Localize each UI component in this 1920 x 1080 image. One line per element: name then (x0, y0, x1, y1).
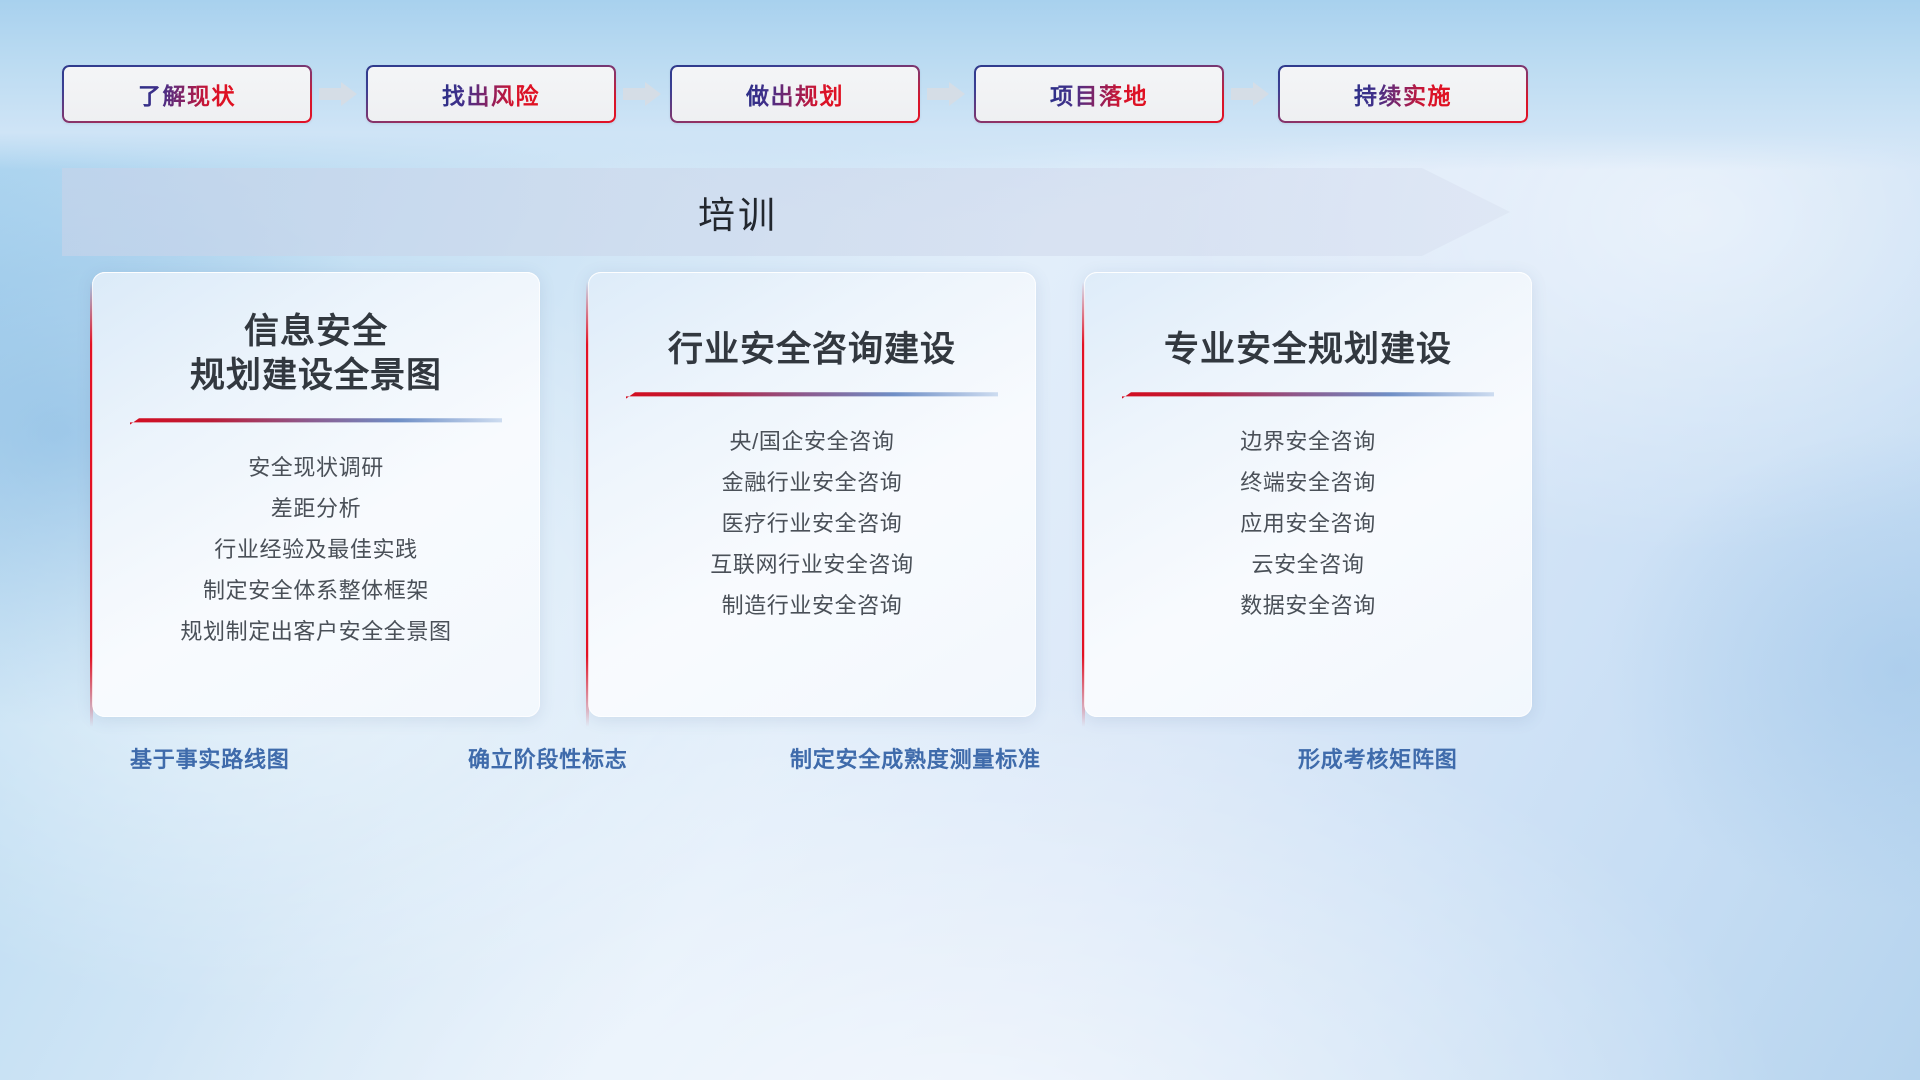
arrow-right-icon (1224, 80, 1278, 108)
list-item: 互联网行业安全咨询 (710, 544, 913, 585)
list-item: 数据安全咨询 (1240, 585, 1376, 626)
list-item: 制造行业安全咨询 (722, 585, 903, 626)
list-item: 云安全咨询 (1251, 544, 1364, 585)
card-divider (626, 388, 998, 399)
arrow-right-icon (616, 80, 670, 108)
list-item: 应用安全咨询 (1240, 503, 1376, 544)
list-item: 行业经验及最佳实践 (214, 529, 417, 570)
arrow-right-icon (920, 80, 974, 108)
card-item-list: 央/国企安全咨询 金融行业安全咨询 医疗行业安全咨询 互联网行业安全咨询 制造行… (710, 421, 913, 626)
process-step-3[interactable]: 做出规划 (670, 65, 920, 123)
card-information-security[interactable]: 信息安全 规划建设全景图 (92, 272, 540, 717)
list-item: 央/国企安全咨询 (730, 421, 895, 462)
process-step-label: 持续实施 (1354, 77, 1452, 111)
list-item: 规划制定出客户安全全景图 (180, 611, 451, 652)
card-industry-security-consulting[interactable]: 行业安全咨询建设 (588, 272, 1036, 717)
card-title: 专业安全规划建设 (1164, 328, 1452, 372)
card-title: 信息安全 规划建设全景图 (190, 310, 442, 398)
slide-canvas: 了解现状 找出风险 做出规划 项目落地 持续实施 (0, 0, 1920, 1080)
process-step-label: 找出风险 (442, 77, 540, 111)
process-step-label: 了解现状 (138, 77, 236, 111)
card-divider (1122, 388, 1494, 399)
banner-title: 培训 (62, 168, 1414, 256)
card-item-list: 安全现状调研 差距分析 行业经验及最佳实践 制定安全体系整体框架 规划制定出客户… (180, 447, 451, 652)
card-list: 信息安全 规划建设全景图 (92, 272, 1532, 717)
list-item: 终端安全咨询 (1240, 462, 1376, 503)
list-item: 制定安全体系整体框架 (203, 570, 429, 611)
card-item-list: 边界安全咨询 终端安全咨询 应用安全咨询 云安全咨询 数据安全咨询 (1240, 421, 1376, 626)
arrow-right-icon (312, 80, 366, 108)
card-title: 行业安全咨询建设 (668, 328, 956, 372)
process-step-label: 做出规划 (746, 77, 844, 111)
card-divider (130, 414, 502, 425)
process-step-4[interactable]: 项目落地 (974, 65, 1224, 123)
list-item: 金融行业安全咨询 (722, 462, 903, 503)
list-item: 医疗行业安全咨询 (722, 503, 903, 544)
process-steps: 了解现状 找出风险 做出规划 项目落地 持续实施 (62, 64, 1514, 124)
process-step-1[interactable]: 了解现状 (62, 65, 312, 123)
list-item: 边界安全咨询 (1240, 421, 1376, 462)
process-step-5[interactable]: 持续实施 (1278, 65, 1528, 123)
list-item: 安全现状调研 (248, 447, 384, 488)
process-step-2[interactable]: 找出风险 (366, 65, 616, 123)
list-item: 差距分析 (271, 488, 361, 529)
card-professional-security-planning[interactable]: 专业安全规划建设 (1084, 272, 1532, 717)
training-banner: 培训 (62, 168, 1510, 256)
process-step-label: 项目落地 (1050, 77, 1148, 111)
